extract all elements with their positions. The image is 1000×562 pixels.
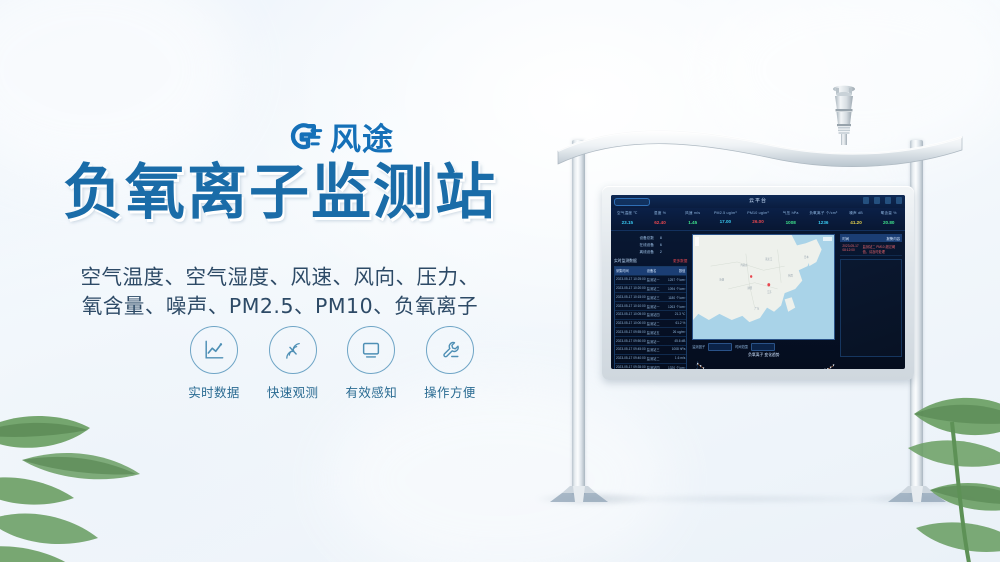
dashboard-right-panel: 时间 报警内容 2023-05-17 08:12:00 监测站二 PM10 超过… bbox=[837, 231, 905, 369]
table-cell: 监测站二 bbox=[646, 285, 665, 293]
kpi-name: PM10 ug/m³ bbox=[742, 211, 775, 215]
kpi-value: 23.15 bbox=[611, 220, 644, 225]
chart-title: 负氧离子 变化趋势 bbox=[692, 353, 835, 358]
line-chart-icon bbox=[190, 326, 238, 374]
table-cell: 2023-05-17 09:40:00 bbox=[615, 355, 646, 363]
map-zoom-control[interactable] bbox=[695, 237, 699, 246]
table-cell: 26 ug/m³ bbox=[665, 328, 687, 336]
table-row[interactable]: 2023-05-17 09:55:00监测站五26 ug/m³ bbox=[615, 328, 686, 337]
header-icon[interactable] bbox=[874, 197, 880, 204]
table-cell: 2023-05-17 10:25:00 bbox=[615, 276, 646, 284]
brand-name: 风途 bbox=[330, 114, 394, 159]
table-cell: 1180 个/cm³ bbox=[665, 293, 687, 301]
kpi-name: PM2.5 ug/m³ bbox=[709, 211, 742, 215]
kpi-value: 20.80 bbox=[872, 220, 905, 225]
kpi-card: 湿度 % 62.40 bbox=[644, 208, 677, 230]
base-plate-right bbox=[884, 484, 950, 511]
kpi-value: 17.00 bbox=[709, 219, 742, 224]
stat-value: 8 bbox=[660, 236, 662, 241]
kpi-name: 空气温度 ℃ bbox=[611, 211, 644, 216]
table-cell: 2023-05-17 09:35:00 bbox=[615, 364, 646, 369]
table-cell: 监测站三 bbox=[646, 346, 665, 354]
range-select[interactable] bbox=[751, 343, 775, 351]
feature-list: 实时数据 快速观测 bbox=[182, 326, 482, 401]
brand-logo: 风途 bbox=[283, 114, 394, 159]
table-cell: 2023-05-17 09:55:00 bbox=[615, 328, 646, 336]
table-row[interactable]: 2023-05-17 09:40:00监测站二1.6 m/s bbox=[615, 355, 686, 364]
column-header: 采集时间 bbox=[615, 267, 646, 275]
stat-value: 6 bbox=[660, 243, 662, 248]
table-cell: 监测站四 bbox=[646, 311, 665, 319]
svg-text:江苏: 江苏 bbox=[767, 290, 772, 294]
chart-filter-bar: 监测因子 时间范围 bbox=[692, 343, 835, 351]
column-header: 数值 bbox=[665, 267, 687, 275]
stat-row: 设备总数 8 bbox=[614, 236, 687, 241]
feature-item-realtime-data[interactable]: 实时数据 bbox=[182, 326, 246, 401]
trend-chart: 负氧离子 变化趋势 012345 00:0000:3001:0001:3002:… bbox=[692, 353, 835, 369]
svg-text:陕西: 陕西 bbox=[748, 286, 753, 290]
alert-col-text: 报警内容 bbox=[886, 236, 900, 241]
monitor-icon bbox=[347, 326, 395, 374]
more-link[interactable]: 更多数据 bbox=[673, 259, 687, 264]
table-row[interactable]: 2023-05-17 09:50:00监测站一45.6 dB bbox=[615, 337, 686, 346]
table-cell: 1257 个/cm³ bbox=[665, 276, 687, 284]
header-icon[interactable] bbox=[885, 197, 891, 204]
kpi-name: 负氧离子 个/cm³ bbox=[807, 211, 840, 216]
wave-canopy bbox=[556, 121, 964, 167]
monitoring-station-illustration: 云平台 空气温度 ℃ 23.15 湿度 % 62.4 bbox=[520, 0, 1000, 562]
kpi-value: 62.40 bbox=[644, 220, 677, 225]
table-cell: 监测站一 bbox=[646, 276, 665, 284]
kpi-value: 1236 bbox=[807, 220, 840, 225]
map-layer-control[interactable] bbox=[823, 237, 832, 241]
dashboard-left-panel: 设备总数 8 在线设备 6 离线设备 2 实时监测数据 bbox=[611, 231, 690, 369]
kpi-value: 41.20 bbox=[840, 220, 873, 225]
table-row[interactable]: 2023-05-17 10:20:00监测站二1094 个/cm³ bbox=[615, 285, 686, 294]
dashboard-title: 云平台 bbox=[611, 197, 905, 204]
alert-row[interactable]: 2023-05-17 08:12:00 监测站二 PM10 超过阈值，请及时处理 bbox=[840, 242, 902, 256]
kpi-value: 1008 bbox=[774, 220, 807, 225]
table-row[interactable]: 2023-05-17 10:15:00监测站三1180 个/cm³ bbox=[615, 293, 686, 302]
table-cell: 监测站五 bbox=[646, 328, 665, 336]
table-cell: 45.6 dB bbox=[665, 337, 687, 345]
page-title: 负氧离子监测站 bbox=[0, 163, 560, 223]
svg-text:5: 5 bbox=[696, 364, 697, 366]
fengtu-wind-logo-icon bbox=[283, 118, 323, 156]
dashboard-body: 设备总数 8 在线设备 6 离线设备 2 实时监测数据 bbox=[611, 231, 905, 369]
kpi-card: 气压 hPa 1008 bbox=[774, 208, 807, 230]
table-header-row: 采集时间 设备名 数值 bbox=[615, 267, 686, 276]
table-cell: 监测站四 bbox=[646, 364, 665, 369]
svg-text:4: 4 bbox=[696, 368, 697, 369]
kpi-card: PM10 ug/m³ 26.00 bbox=[742, 208, 775, 230]
table-cell: 2023-05-17 09:50:00 bbox=[615, 337, 646, 345]
table-cell: 监测站二 bbox=[646, 320, 665, 328]
svg-text:新疆: 新疆 bbox=[720, 277, 725, 281]
stat-row: 离线设备 2 bbox=[614, 250, 687, 255]
stat-label: 离线设备 bbox=[640, 250, 654, 255]
feature-item-easy-operation[interactable]: 操作方便 bbox=[418, 326, 482, 401]
feature-item-effective-sensing[interactable]: 有效感知 bbox=[339, 326, 403, 401]
table-cell: 21.3 ℃ bbox=[665, 311, 687, 319]
factor-select[interactable] bbox=[708, 343, 732, 351]
kpi-value: 1.45 bbox=[676, 220, 709, 225]
table-row[interactable]: 2023-05-17 10:00:00监测站二61.2 % bbox=[615, 320, 686, 329]
stat-label: 设备总数 bbox=[640, 236, 654, 241]
table-row[interactable]: 2023-05-17 09:35:00监测站四1320 个/cm³ bbox=[615, 364, 686, 369]
kpi-name: 气压 hPa bbox=[774, 211, 807, 216]
svg-text:日本: 日本 bbox=[804, 255, 809, 259]
kpi-name: 噪声 dB bbox=[840, 211, 873, 216]
station-post-left bbox=[572, 140, 585, 495]
kpi-card: PM2.5 ug/m³ 17.00 bbox=[709, 208, 742, 230]
table-row[interactable]: 2023-05-17 10:25:00监测站一1257 个/cm³ bbox=[615, 276, 686, 285]
china-map[interactable]: 内蒙古黑龙江 新疆陕西 江苏广东 日本韩国 bbox=[692, 234, 835, 340]
display-screen-frame: 云平台 空气温度 ℃ 23.15 湿度 % 62.4 bbox=[602, 186, 914, 380]
wrench-icon bbox=[426, 326, 474, 374]
stat-label: 在线设备 bbox=[640, 243, 654, 248]
hero-text-block: 风途 负氧离子监测站 空气温度、空气湿度、风速、风向、压力、 氧含量、噪声、PM… bbox=[0, 0, 560, 562]
ultrasonic-weather-sensor-icon bbox=[825, 84, 863, 146]
table-cell: 2023-05-17 10:05:00 bbox=[615, 311, 646, 319]
kpi-card: 氧含量 % 20.80 bbox=[872, 208, 905, 230]
table-cell: 1094 个/cm³ bbox=[665, 285, 687, 293]
table-cell: 2023-05-17 09:45:00 bbox=[615, 346, 646, 354]
svg-text:韩国: 韩国 bbox=[789, 273, 794, 277]
alert-header: 时间 报警内容 bbox=[840, 234, 902, 242]
trend-chart-svg: 012345 bbox=[692, 359, 835, 369]
kpi-card: 风速 m/s 1.45 bbox=[676, 208, 709, 230]
feature-label: 操作方便 bbox=[418, 382, 482, 401]
realtime-data-table[interactable]: 采集时间 设备名 数值 2023-05-17 10:25:00监测站一1257 … bbox=[614, 266, 687, 369]
feature-label: 实时数据 bbox=[182, 382, 246, 401]
table-row[interactable]: 2023-05-17 09:45:00监测站三1008 hPa bbox=[615, 346, 686, 355]
dashboard-center-panel: 内蒙古黑龙江 新疆陕西 江苏广东 日本韩国 bbox=[690, 231, 837, 369]
table-cell: 监测站三 bbox=[646, 293, 665, 301]
table-row[interactable]: 2023-05-17 10:10:00监测站一1263 个/cm³ bbox=[615, 302, 686, 311]
table-cell: 监测站二 bbox=[646, 355, 665, 363]
filter-label: 时间范围 bbox=[735, 344, 748, 349]
table-cell: 2023-05-17 10:10:00 bbox=[615, 302, 646, 310]
promo-banner: 风途 负氧离子监测站 空气温度、空气湿度、风速、风向、压力、 氧含量、噪声、PM… bbox=[0, 0, 1000, 562]
column-header: 设备名 bbox=[646, 267, 665, 275]
radar-signal-icon bbox=[269, 326, 317, 374]
svg-text:内蒙古: 内蒙古 bbox=[741, 263, 748, 267]
dashboard-header: 云平台 bbox=[611, 195, 905, 208]
kpi-card: 噪声 dB 41.20 bbox=[840, 208, 873, 230]
table-cell: 2023-05-17 10:00:00 bbox=[615, 320, 646, 328]
ground-shadow-center bbox=[580, 494, 910, 504]
table-cell: 1008 hPa bbox=[665, 346, 687, 354]
subtitle-line-2: 氧含量、噪声、PM2.5、PM10、负氧离子 bbox=[0, 289, 560, 319]
base-plate-left bbox=[546, 484, 612, 511]
alert-text: 监测站二 PM10 超过阈值，请及时处理 bbox=[863, 244, 900, 254]
table-cell: 1320 个/cm³ bbox=[665, 364, 687, 369]
filter-label: 监测因子 bbox=[692, 344, 705, 349]
svg-text:广东: 广东 bbox=[755, 306, 760, 310]
table-row[interactable]: 2023-05-17 10:05:00监测站四21.3 ℃ bbox=[615, 311, 686, 320]
table-header-bar: 实时监测数据 更多数据 bbox=[614, 259, 687, 264]
table-cell: 1263 个/cm³ bbox=[665, 302, 687, 310]
table-cell: 2023-05-17 10:15:00 bbox=[615, 293, 646, 301]
table-cell: 1.6 m/s bbox=[665, 355, 687, 363]
subtitle-line-1: 空气温度、空气湿度、风速、风向、压力、 bbox=[0, 260, 560, 290]
kpi-card: 负氧离子 个/cm³ 1236 bbox=[807, 208, 840, 230]
header-icon-group[interactable] bbox=[863, 197, 902, 204]
kpi-name: 风速 m/s bbox=[676, 211, 709, 216]
stat-value: 2 bbox=[660, 250, 662, 255]
feature-label: 有效感知 bbox=[339, 382, 403, 401]
header-icon[interactable] bbox=[896, 197, 902, 204]
table-cell: 61.2 % bbox=[665, 320, 687, 328]
svg-text:黑龙江: 黑龙江 bbox=[766, 257, 773, 261]
kpi-card: 空气温度 ℃ 23.15 bbox=[611, 208, 644, 230]
feature-item-fast-observation[interactable]: 快速观测 bbox=[261, 326, 325, 401]
header-icon[interactable] bbox=[863, 197, 869, 204]
video-preview-pane[interactable] bbox=[840, 259, 902, 357]
alert-col-time: 时间 bbox=[842, 236, 849, 241]
feature-label: 快速观测 bbox=[261, 382, 325, 401]
kpi-strip: 空气温度 ℃ 23.15 湿度 % 62.40 风速 m/s 1.45 PM2.… bbox=[611, 208, 905, 231]
table-body: 2023-05-17 10:25:00监测站一1257 个/cm³2023-05… bbox=[615, 276, 686, 369]
kpi-value: 26.00 bbox=[742, 219, 775, 224]
dashboard-screen[interactable]: 云平台 空气温度 ℃ 23.15 湿度 % 62.4 bbox=[611, 195, 905, 369]
table-cell: 监测站一 bbox=[646, 302, 665, 310]
table-cell: 监测站一 bbox=[646, 337, 665, 345]
alert-time: 2023-05-17 08:12:00 bbox=[842, 244, 862, 254]
kpi-name: 氧含量 % bbox=[872, 211, 905, 216]
table-cell: 2023-05-17 10:20:00 bbox=[615, 285, 646, 293]
table-title: 实时监测数据 bbox=[614, 259, 637, 264]
kpi-name: 湿度 % bbox=[644, 211, 677, 216]
stat-row: 在线设备 6 bbox=[614, 243, 687, 248]
